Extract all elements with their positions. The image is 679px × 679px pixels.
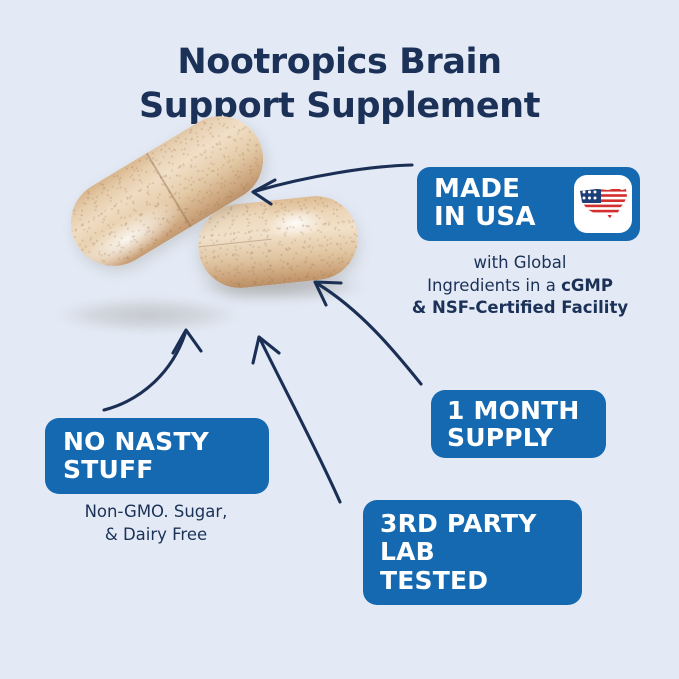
usa-caption-nsf: & NSF-Certified Facility xyxy=(412,298,628,317)
no-nasty-stuff-badge: NO NASTY STUFF xyxy=(45,418,269,494)
title-line-2: Support Supplement xyxy=(0,84,679,128)
third-party-lab-line-2: LAB xyxy=(380,538,582,567)
product-capsules-image xyxy=(48,140,348,340)
usa-caption-line-2: Ingredients in a cGMP xyxy=(392,275,648,298)
made-in-usa-line-1: MADE xyxy=(434,176,574,204)
title-line-1: Nootropics Brain xyxy=(0,40,679,84)
usa-caption-line-3: & NSF-Certified Facility xyxy=(392,297,648,320)
third-party-lab-badge: 3RD PARTY LAB TESTED xyxy=(363,500,582,605)
no-nasty-stuff-line-2: STUFF xyxy=(63,456,269,484)
usa-caption-line-2-prefix: Ingredients in a xyxy=(427,276,561,295)
nasty-caption-line-2: & Dairy Free xyxy=(30,523,282,546)
capsule-shadow-front xyxy=(58,298,238,332)
product-infographic: Nootropics Brain Support Supplement xyxy=(0,0,679,679)
usa-map-flag-svg xyxy=(577,184,629,224)
one-month-supply-line-1: 1 MONTH xyxy=(447,397,606,425)
usa-map-flag-icon xyxy=(574,175,632,233)
no-nasty-stuff-caption: Non-GMO. Sugar, & Dairy Free xyxy=(30,500,282,547)
one-month-supply-line-2: SUPPLY xyxy=(447,424,606,452)
third-party-lab-line-3: TESTED xyxy=(380,567,582,596)
made-in-usa-caption: with Global Ingredients in a cGMP & NSF-… xyxy=(392,252,648,320)
made-in-usa-line-2: IN USA xyxy=(434,204,574,232)
arrow-lab-to-capsule-head xyxy=(253,337,279,363)
usa-caption-line-1: with Global xyxy=(392,252,648,275)
nasty-caption-line-1: Non-GMO. Sugar, xyxy=(30,500,282,523)
third-party-lab-line-1: 3RD PARTY xyxy=(380,510,582,539)
made-in-usa-text: MADE IN USA xyxy=(434,176,574,231)
usa-caption-cgmp: cGMP xyxy=(561,276,613,295)
arrow-lab-to-capsule-shaft xyxy=(261,341,340,502)
arrow-nasty-to-capsule-shaft xyxy=(104,334,185,410)
one-month-supply-badge: 1 MONTH SUPPLY xyxy=(431,390,606,458)
made-in-usa-badge: MADE IN USA xyxy=(417,167,640,241)
no-nasty-stuff-line-1: NO NASTY xyxy=(63,428,269,456)
page-title: Nootropics Brain Support Supplement xyxy=(0,40,679,129)
